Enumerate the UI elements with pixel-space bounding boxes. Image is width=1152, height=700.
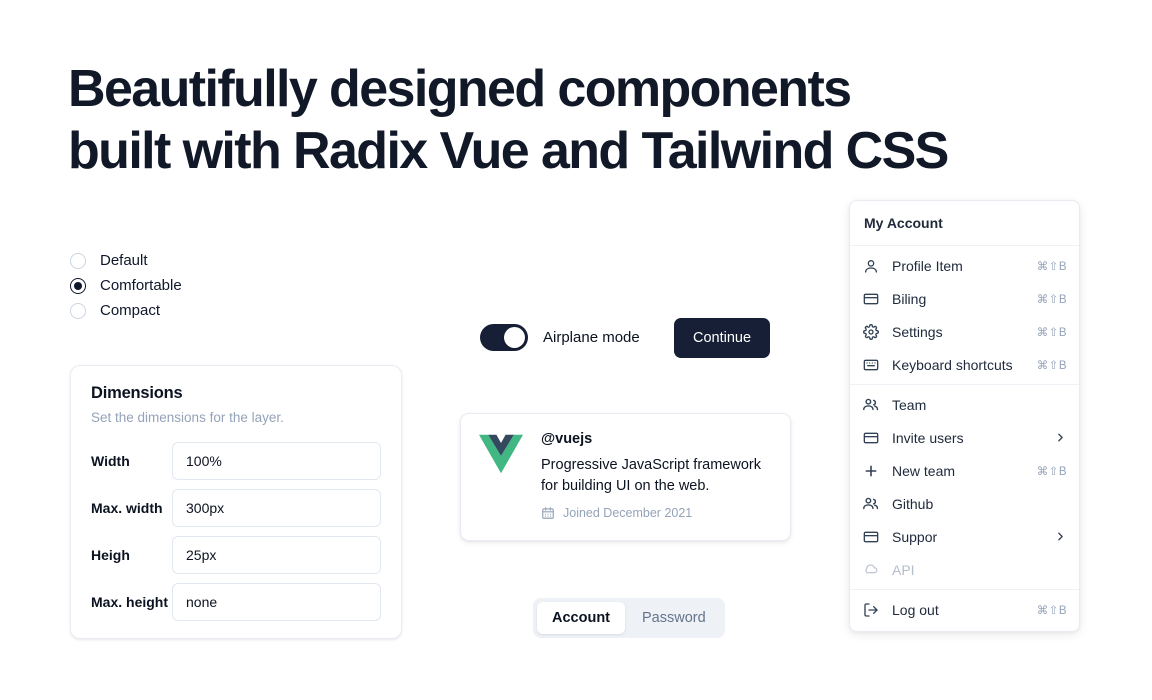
menu-item-shortcut: ⌘⇧B [1037,259,1067,273]
field-label: Heigh [91,547,172,563]
menu-item-label: New team [892,463,1037,479]
gear-icon [862,323,879,340]
menu-item-new-team[interactable]: New team ⌘⇧B [850,454,1079,487]
menu-item-label: Settings [892,324,1037,340]
menu-item-shortcut: ⌘⇧B [1037,603,1067,617]
vue-logo-icon [479,434,523,474]
page-title-line-2: built with Radix Vue and Tailwind CSS [68,120,1028,182]
page-title-line-1: Beautifully designed components [68,58,1028,120]
vue-joined-date: Joined December 2021 [563,506,692,520]
keyboard-icon [862,356,879,373]
radio-option-default[interactable]: Default [70,248,182,273]
airplane-mode-label: Airplane mode [543,329,640,346]
account-dropdown-menu: My Account Profile Item ⌘⇧B Biling ⌘⇧B [849,200,1080,632]
menu-item-label: Biling [892,291,1037,307]
dimensions-field-height: Heigh [91,535,381,575]
menu-item-api: API [850,553,1079,586]
credit-card-icon [862,528,879,545]
menu-item-label: Github [892,496,1067,512]
menu-item-support[interactable]: Suppor [850,520,1079,553]
dimensions-card: Dimensions Set the dimensions for the la… [70,365,402,639]
dimensions-field-max-height: Max. height [91,582,381,622]
radio-option-compact[interactable]: Compact [70,298,182,323]
radio-option-comfortable[interactable]: Comfortable [70,273,182,298]
settings-tabs: Account Password [533,598,725,638]
menu-item-profile[interactable]: Profile Item ⌘⇧B [850,249,1079,282]
max-width-input[interactable] [172,489,381,527]
chevron-right-icon [1054,530,1067,543]
vue-joined-row: Joined December 2021 [541,506,772,520]
menu-item-shortcut: ⌘⇧B [1037,292,1067,306]
radio-indicator-icon[interactable] [70,303,86,319]
logout-icon [862,601,879,618]
menu-item-label: Team [892,397,1067,413]
tab-account[interactable]: Account [537,602,625,634]
credit-card-icon [862,429,879,446]
menu-item-invite-users[interactable]: Invite users [850,421,1079,454]
menu-item-github[interactable]: Github [850,487,1079,520]
radio-option-label: Comfortable [100,278,182,293]
airplane-mode-toggle[interactable] [480,324,528,351]
plus-icon [862,462,879,479]
chevron-right-icon [1054,431,1067,444]
height-input[interactable] [172,536,381,574]
menu-item-label: Invite users [892,430,1054,446]
cloud-icon [862,561,879,578]
menu-header-label: My Account [850,206,1079,242]
dimensions-field-width: Width [91,441,381,481]
dimensions-field-list: Width Max. width Heigh Max. height [91,441,381,622]
dimensions-card-title: Dimensions [91,384,381,403]
field-label: Width [91,453,172,469]
density-radio-group: Default Comfortable Compact [70,248,182,323]
dimensions-card-subtitle: Set the dimensions for the layer. [91,410,381,425]
menu-item-shortcut: ⌘⇧B [1037,464,1067,478]
menu-separator [850,589,1079,590]
menu-separator [850,384,1079,385]
menu-item-shortcut: ⌘⇧B [1037,325,1067,339]
vue-description: Progressive JavaScript framework for bui… [541,455,772,497]
menu-separator [850,245,1079,246]
vue-hover-card: @vuejs Progressive JavaScript framework … [460,413,791,541]
credit-card-icon [862,290,879,307]
menu-item-label: API [892,562,1067,578]
user-icon [862,257,879,274]
toggle-knob [504,327,525,348]
tab-password[interactable]: Password [627,602,721,634]
menu-item-label: Profile Item [892,258,1037,274]
continue-button[interactable]: Continue [674,318,770,358]
field-label: Max. height [91,594,172,610]
dimensions-field-max-width: Max. width [91,488,381,528]
radio-option-label: Compact [100,303,160,318]
menu-item-team[interactable]: Team [850,388,1079,421]
airplane-mode-row: Airplane mode [480,324,640,351]
menu-item-billing[interactable]: Biling ⌘⇧B [850,282,1079,315]
menu-item-settings[interactable]: Settings ⌘⇧B [850,315,1079,348]
menu-item-keyboard-shortcuts[interactable]: Keyboard shortcuts ⌘⇧B [850,348,1079,381]
menu-item-label: Log out [892,602,1037,618]
radio-indicator-icon[interactable] [70,253,86,269]
vue-handle: @vuejs [541,431,772,447]
menu-item-shortcut: ⌘⇧B [1037,358,1067,372]
menu-item-label: Keyboard shortcuts [892,357,1037,373]
max-height-input[interactable] [172,583,381,621]
width-input[interactable] [172,442,381,480]
radio-option-label: Default [100,253,148,268]
vue-hover-card-body: @vuejs Progressive JavaScript framework … [541,431,772,523]
calendar-icon [541,506,555,520]
users-icon [862,495,879,512]
menu-item-label: Suppor [892,529,1054,545]
page-root: Beautifully designed components built wi… [0,0,1152,700]
field-label: Max. width [91,500,172,516]
menu-item-log-out[interactable]: Log out ⌘⇧B [850,593,1079,626]
radio-indicator-selected-icon[interactable] [70,278,86,294]
users-icon [862,396,879,413]
page-title: Beautifully designed components built wi… [68,58,1028,182]
